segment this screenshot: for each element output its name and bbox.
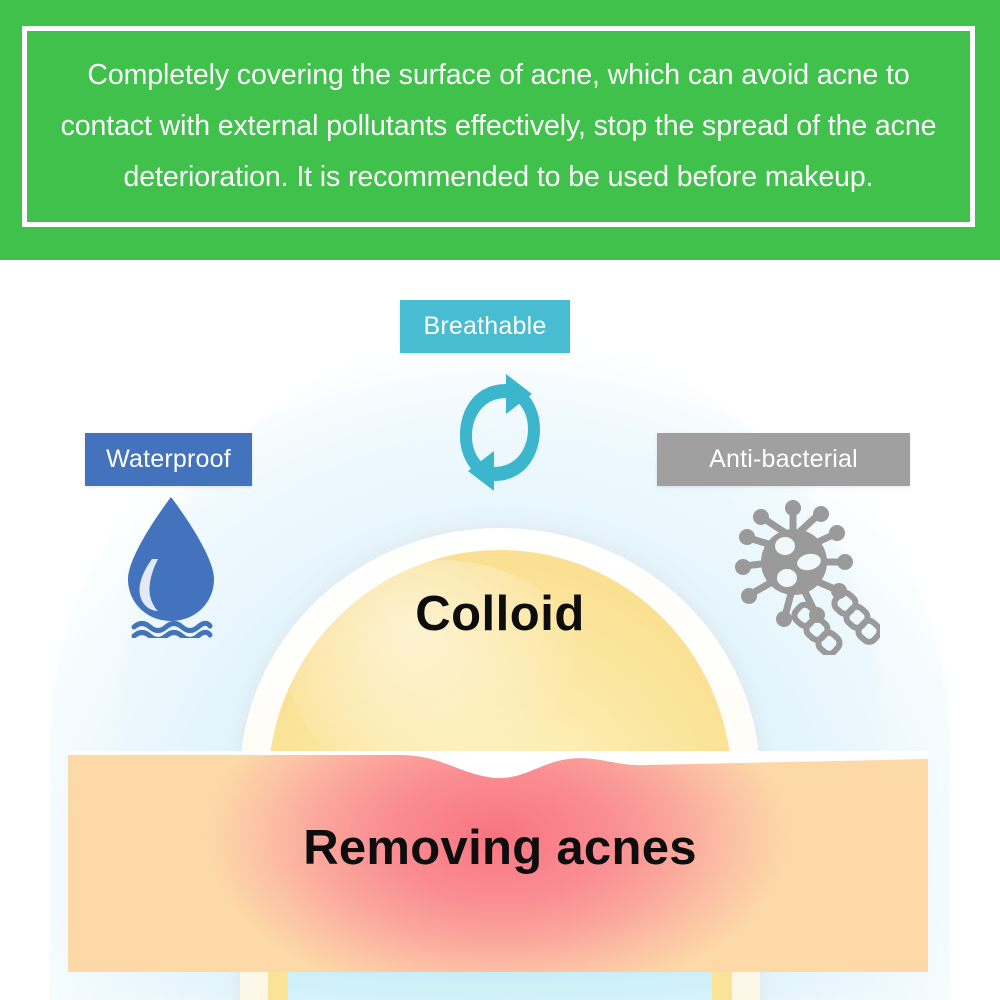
badge-breathable[interactable]: Breathable xyxy=(400,300,570,353)
badge-breathable-label: Breathable xyxy=(424,312,547,341)
diagram-stage: Breathable Waterproof Anti-bacterial xyxy=(0,260,1000,1000)
badge-waterproof[interactable]: Waterproof xyxy=(85,433,252,486)
badge-anti-bacterial-label: Anti-bacterial xyxy=(709,445,858,474)
banner: Completely covering the surface of acne,… xyxy=(0,0,1000,260)
badge-waterproof-label: Waterproof xyxy=(106,445,231,474)
infographic-page: Completely covering the surface of acne,… xyxy=(0,0,1000,1000)
label-colloid: Colloid xyxy=(0,586,1000,642)
banner-text: Completely covering the surface of acne,… xyxy=(27,50,970,202)
skin-surface-curve xyxy=(68,751,928,795)
banner-frame: Completely covering the surface of acne,… xyxy=(22,26,975,227)
label-removing-acnes: Removing acnes xyxy=(0,820,1000,876)
recycle-arrows-icon xyxy=(440,370,560,495)
badge-anti-bacterial[interactable]: Anti-bacterial xyxy=(657,433,910,486)
